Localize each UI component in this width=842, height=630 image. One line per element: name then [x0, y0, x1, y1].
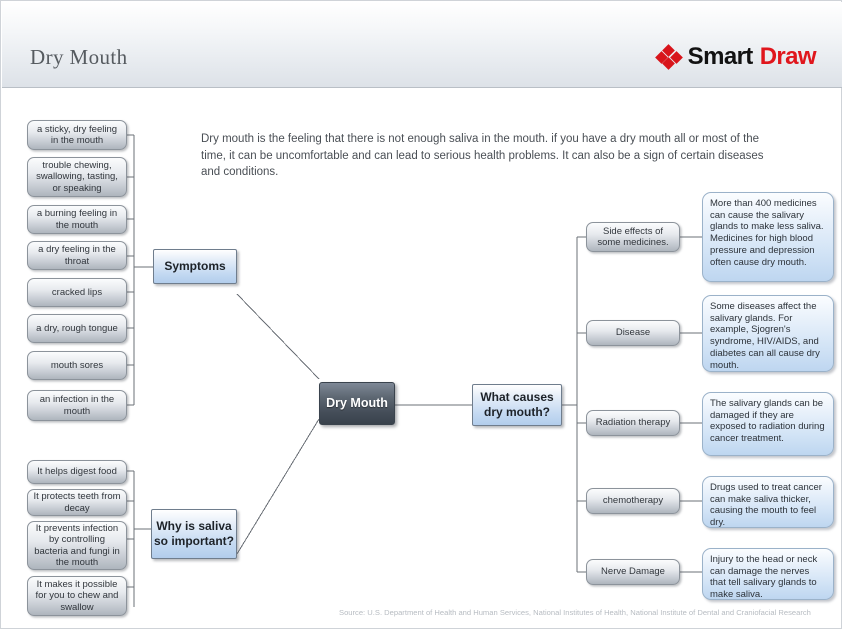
- saliva-function-node[interactable]: It protects teeth from decay: [27, 489, 127, 516]
- symptom-label: mouth sores: [33, 360, 121, 372]
- symptom-node[interactable]: a burning feeling in the mouth: [27, 205, 127, 234]
- branch-label: Symptoms: [154, 259, 236, 274]
- cause-label: Radiation therapy: [592, 417, 674, 429]
- intro-paragraph: Dry mouth is the feeling that there is n…: [201, 131, 781, 181]
- symptom-label: trouble chewing, swallowing, tasting, or…: [33, 160, 121, 195]
- page-header: Dry Mouth SmartDraw: [2, 2, 842, 88]
- branch-label: What causes dry mouth?: [473, 390, 561, 420]
- page-title: Dry Mouth: [30, 45, 128, 70]
- cause-description-text: Injury to the head or neck can damage th…: [710, 554, 826, 601]
- source-citation: Source: U.S. Department of Health and Hu…: [339, 608, 835, 617]
- cause-description[interactable]: Injury to the head or neck can damage th…: [702, 548, 834, 600]
- cause-node[interactable]: Disease: [586, 320, 680, 346]
- saliva-function-label: It makes it possible for you to chew and…: [33, 579, 121, 614]
- saliva-function-node[interactable]: It helps digest food: [27, 460, 127, 484]
- saliva-function-label: It helps digest food: [33, 466, 121, 478]
- diagram-canvas: Dry mouth is the feeling that there is n…: [1, 89, 842, 630]
- smartdraw-logo: SmartDraw: [657, 43, 816, 71]
- cause-node[interactable]: Nerve Damage: [586, 559, 680, 585]
- hub-node-dry-mouth[interactable]: Dry Mouth: [319, 382, 395, 425]
- symptom-node[interactable]: mouth sores: [27, 351, 127, 380]
- hub-label: Dry Mouth: [320, 396, 394, 411]
- cause-label: Nerve Damage: [592, 566, 674, 578]
- cause-description-text: Drugs used to treat cancer can make sali…: [710, 482, 826, 529]
- symptom-node[interactable]: a dry, rough tongue: [27, 314, 127, 343]
- saliva-function-node[interactable]: It prevents infection by controlling bac…: [27, 521, 127, 570]
- cause-label: chemotherapy: [592, 495, 674, 507]
- symptom-node[interactable]: trouble chewing, swallowing, tasting, or…: [27, 157, 127, 197]
- cause-description-text: Some diseases affect the salivary glands…: [710, 301, 826, 371]
- cause-description[interactable]: The salivary glands can be damaged if th…: [702, 392, 834, 456]
- cause-description-text: The salivary glands can be damaged if th…: [710, 398, 826, 445]
- cause-description-text: More than 400 medicines can cause the sa…: [710, 198, 826, 268]
- symptom-label: an infection in the mouth: [33, 394, 121, 417]
- branch-label: Why is saliva so important?: [152, 519, 236, 549]
- symptom-label: a burning feeling in the mouth: [33, 208, 121, 231]
- cause-node[interactable]: Radiation therapy: [586, 410, 680, 436]
- symptom-node[interactable]: cracked lips: [27, 278, 127, 307]
- cause-label: Side effects of some medicines.: [592, 226, 674, 249]
- saliva-function-label: It protects teeth from decay: [33, 491, 121, 514]
- symptom-label: a sticky, dry feeling in the mouth: [33, 124, 121, 147]
- symptom-label: cracked lips: [33, 287, 121, 299]
- logo-text-smart: Smart: [688, 43, 753, 71]
- cause-description[interactable]: Drugs used to treat cancer can make sali…: [702, 476, 834, 528]
- cause-node[interactable]: chemotherapy: [586, 488, 680, 514]
- saliva-function-label: It prevents infection by controlling bac…: [33, 523, 121, 569]
- symptom-node[interactable]: an infection in the mouth: [27, 390, 127, 421]
- diamond-cluster-icon: [657, 46, 681, 68]
- page-frame: Dry Mouth SmartDraw: [0, 0, 842, 629]
- symptom-label: a dry feeling in the throat: [33, 244, 121, 267]
- symptom-node[interactable]: a sticky, dry feeling in the mouth: [27, 120, 127, 150]
- branch-node-causes[interactable]: What causes dry mouth?: [472, 384, 562, 426]
- saliva-function-node[interactable]: It makes it possible for you to chew and…: [27, 576, 127, 616]
- symptom-label: a dry, rough tongue: [33, 323, 121, 335]
- cause-node[interactable]: Side effects of some medicines.: [586, 222, 680, 252]
- logo-text-draw: Draw: [760, 43, 816, 71]
- cause-description[interactable]: More than 400 medicines can cause the sa…: [702, 192, 834, 282]
- cause-label: Disease: [592, 327, 674, 339]
- branch-node-saliva[interactable]: Why is saliva so important?: [151, 509, 237, 559]
- branch-node-symptoms[interactable]: Symptoms: [153, 249, 237, 284]
- cause-description[interactable]: Some diseases affect the salivary glands…: [702, 295, 834, 372]
- symptom-node[interactable]: a dry feeling in the throat: [27, 241, 127, 270]
